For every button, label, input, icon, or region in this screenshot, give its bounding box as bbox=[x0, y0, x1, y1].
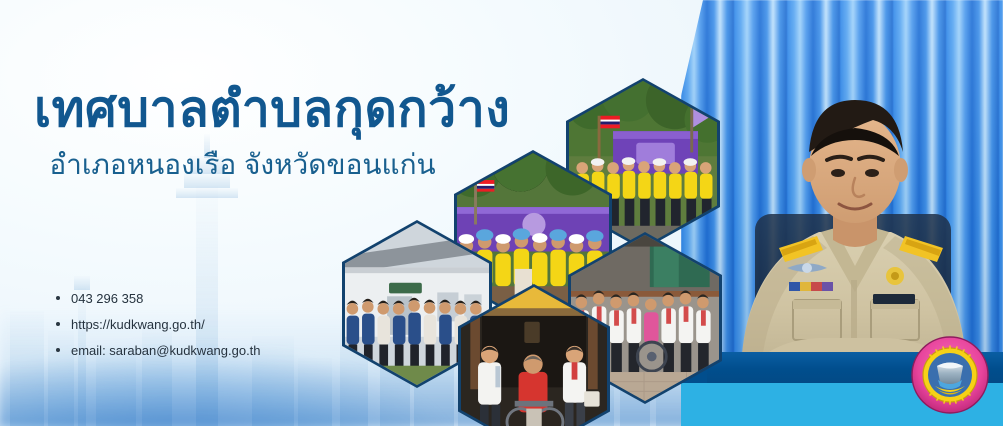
title-block: เทศบาลตำบลกุดกว้าง อำเภอหนองเรือ จังหวัด… bbox=[0, 82, 640, 187]
contact-item-phone[interactable]: 043 296 358 bbox=[56, 292, 261, 305]
contact-list: 043 296 358 https://kudkwang.go.th/ emai… bbox=[56, 292, 261, 370]
contact-item-email[interactable]: email: saraban@kudkwang.go.th bbox=[56, 344, 261, 357]
municipality-emblem[interactable] bbox=[911, 336, 989, 414]
page-title: เทศบาลตำบลกุดกว้าง bbox=[0, 82, 640, 136]
contact-item-website[interactable]: https://kudkwang.go.th/ bbox=[56, 318, 261, 331]
municipality-banner: เทศบาลตำบลกุดกว้าง อำเภอหนองเรือ จังหวัด… bbox=[0, 0, 1003, 426]
page-subtitle: อำเภอหนองเรือ จังหวัดขอนแก่น bbox=[0, 143, 640, 187]
